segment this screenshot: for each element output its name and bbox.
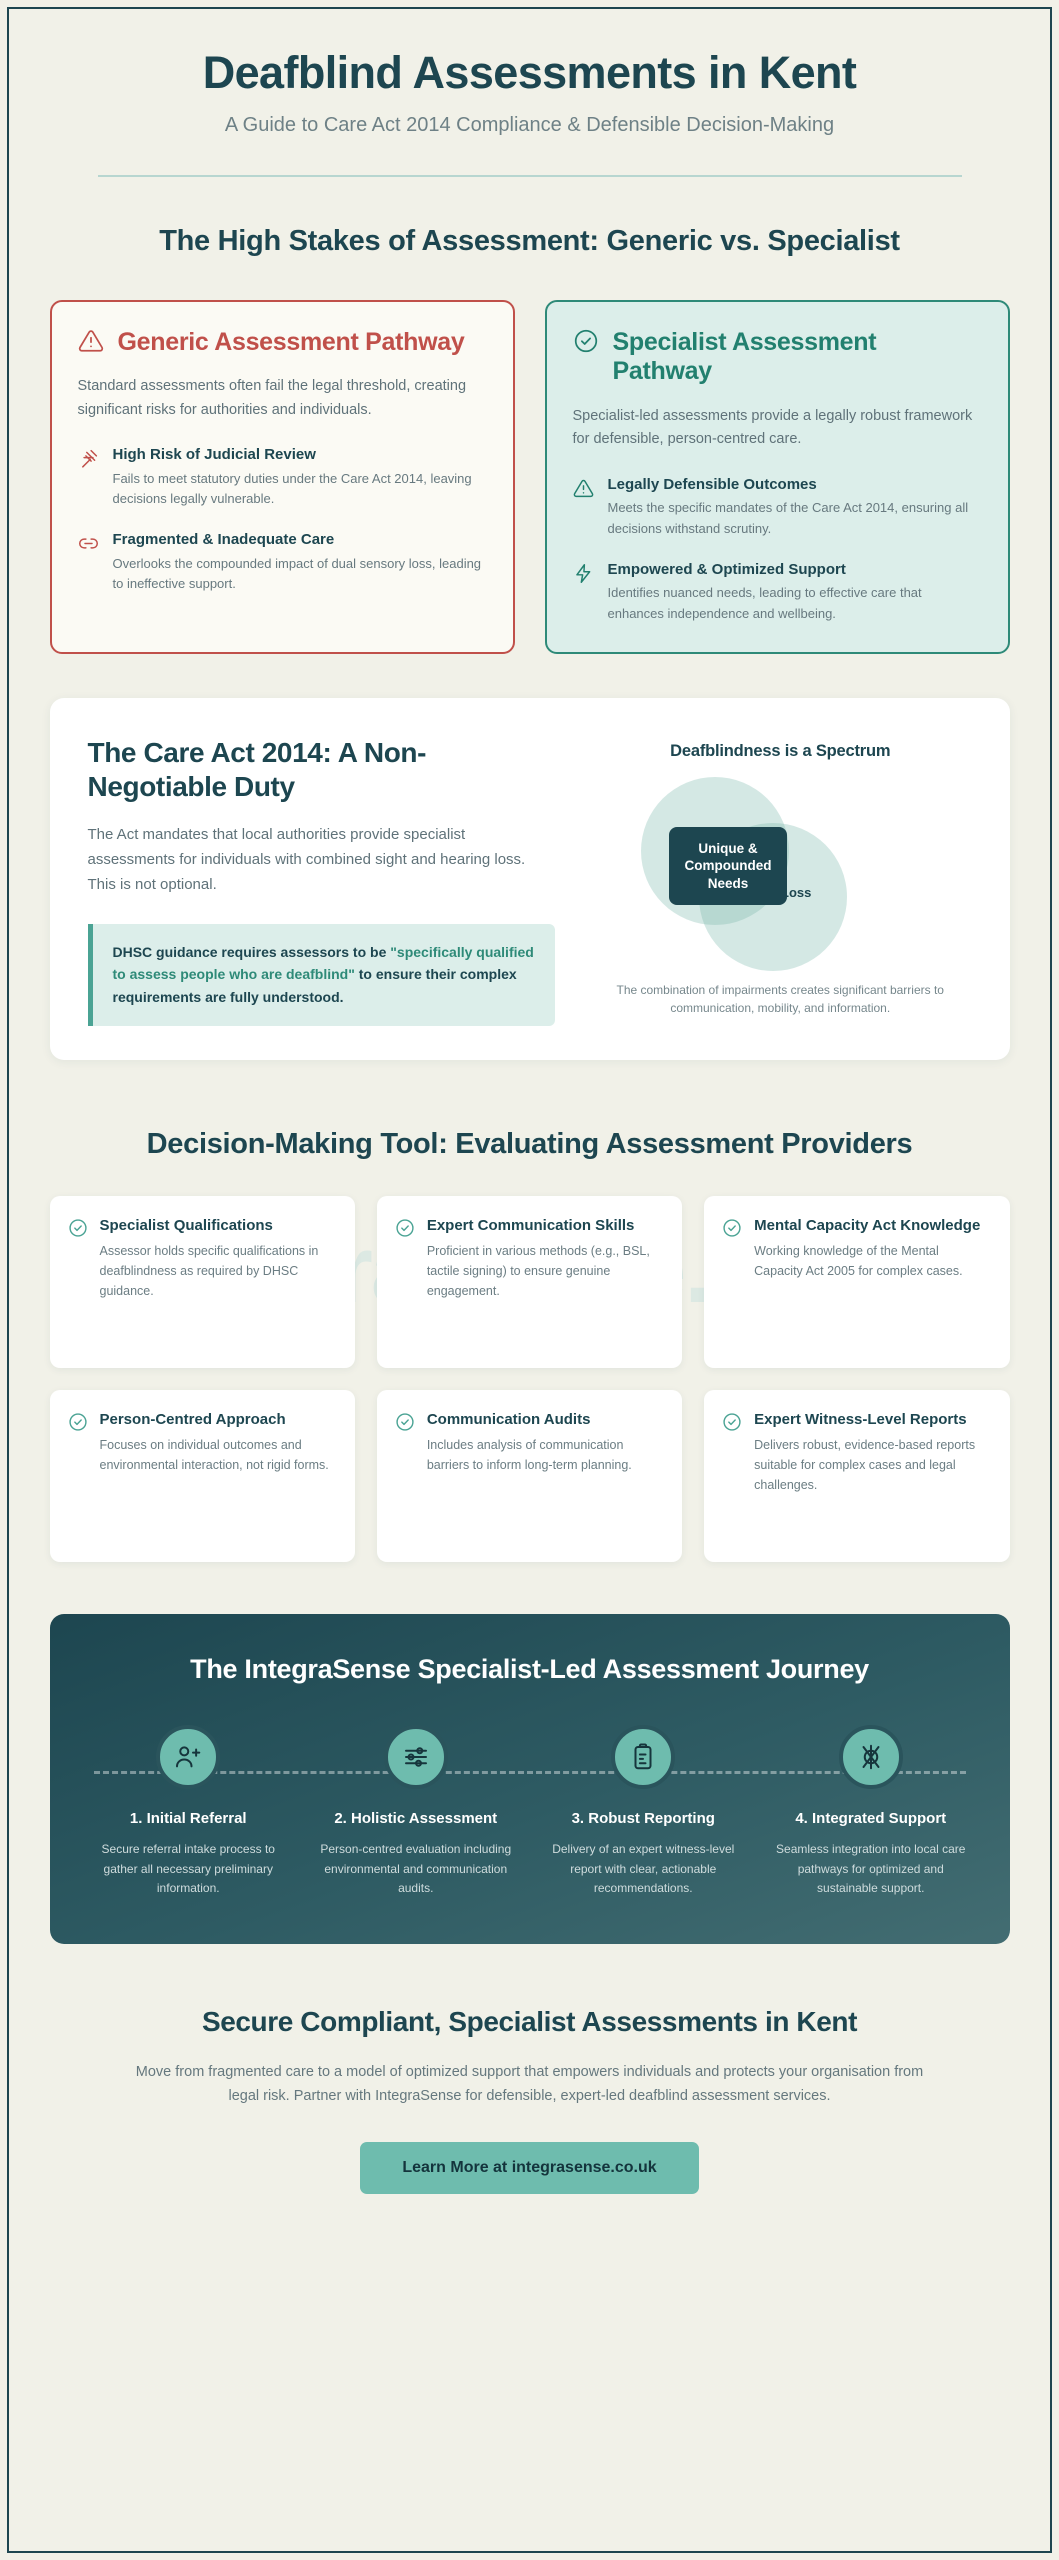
- alert-triangle-icon: [78, 328, 104, 354]
- step-desc: Seamless integration into local care pat…: [766, 1840, 976, 1898]
- network-nodes-icon: [856, 1742, 886, 1772]
- list-item-title: Person-Centred Approach: [100, 1410, 335, 1429]
- step-bubble: [611, 1725, 675, 1789]
- comparison-section: The High Stakes of Assessment: Generic v…: [50, 223, 1010, 653]
- care-act-title: The Care Act 2014: A Non-Negotiable Duty: [88, 736, 556, 804]
- clipboard-icon: [628, 1742, 658, 1772]
- list-item: Mental Capacity Act Knowledge Working kn…: [704, 1196, 1009, 1368]
- specialist-card-lead: Specialist-led assessments provide a leg…: [573, 405, 982, 452]
- gavel-icon: [78, 446, 100, 509]
- list-item: Legally Defensible Outcomes Meets the sp…: [573, 476, 982, 539]
- list-item-desc: Working knowledge of the Mental Capacity…: [754, 1241, 989, 1281]
- care-act-body: The Act mandates that local authorities …: [88, 822, 556, 898]
- specialist-pathway-card: Specialist Assessment Pathway Specialist…: [545, 300, 1010, 654]
- list-item-title: Empowered & Optimized Support: [608, 561, 982, 580]
- decision-tool-section: Decision-Making Tool: Evaluating Assessm…: [50, 1126, 1010, 1562]
- step-title: 1. Initial Referral: [84, 1809, 294, 1829]
- page-subtitle: A Guide to Care Act 2014 Compliance & De…: [50, 114, 1010, 137]
- step-bubble: [156, 1725, 220, 1789]
- check-circle-icon: [722, 1410, 742, 1538]
- generic-card-header: Generic Assessment Pathway: [78, 328, 487, 358]
- page-title: Deafblind Assessments in Kent: [50, 48, 1010, 98]
- journey-title: The IntegraSense Specialist-Led Assessme…: [84, 1652, 976, 1687]
- broken-link-icon: [78, 531, 100, 594]
- list-item-title: Expert Communication Skills: [427, 1216, 662, 1235]
- list-item: Person-Centred Approach Focuses on indiv…: [50, 1390, 355, 1562]
- list-item-title: Specialist Qualifications: [100, 1216, 335, 1235]
- journey-step-2: 2. Holistic Assessment Person-centred ev…: [311, 1725, 521, 1898]
- footer-cta-section: Secure Compliant, Specialist Assessments…: [50, 2006, 1010, 2194]
- list-item: Expert Communication Skills Proficient i…: [377, 1196, 682, 1368]
- page-header: Deafblind Assessments in Kent A Guide to…: [50, 0, 1010, 177]
- list-item-desc: Includes analysis of communication barri…: [427, 1435, 662, 1475]
- step-desc: Delivery of an expert witness-level repo…: [539, 1840, 749, 1898]
- check-circle-icon: [395, 1410, 415, 1538]
- list-item-title: Communication Audits: [427, 1410, 662, 1429]
- step-desc: Person-centred evaluation including envi…: [311, 1840, 521, 1898]
- spectrum-title: Deafblindness is a Spectrum: [589, 742, 972, 761]
- care-act-text-column: The Care Act 2014: A Non-Negotiable Duty…: [88, 736, 556, 1026]
- care-act-panel: The Care Act 2014: A Non-Negotiable Duty…: [50, 698, 1010, 1060]
- check-circle-icon: [68, 1410, 88, 1538]
- comparison-card-group: Generic Assessment Pathway Standard asse…: [50, 300, 1010, 654]
- assessment-journey-panel: The IntegraSense Specialist-Led Assessme…: [50, 1614, 1010, 1944]
- list-item-title: Mental Capacity Act Knowledge: [754, 1216, 989, 1235]
- list-item-desc: Focuses on individual outcomes and envir…: [100, 1435, 335, 1475]
- header-divider: [98, 175, 962, 177]
- list-item-desc: Fails to meet statutory duties under the…: [113, 469, 487, 509]
- checklist-grid: Specialist Qualifications Assessor holds…: [50, 1196, 1010, 1562]
- step-title: 2. Holistic Assessment: [311, 1809, 521, 1829]
- journey-step-1: 1. Initial Referral Secure referral inta…: [84, 1725, 294, 1898]
- list-item-title: Legally Defensible Outcomes: [608, 476, 982, 495]
- alert-triangle-icon: [573, 476, 595, 539]
- quote-lead: DHSC guidance requires assessors to be: [113, 944, 391, 960]
- user-plus-icon: [173, 1742, 203, 1772]
- list-item-desc: Meets the specific mandates of the Care …: [608, 498, 982, 538]
- journey-step-4: 4. Integrated Support Seamless integrati…: [766, 1725, 976, 1898]
- check-circle-icon: [722, 1216, 742, 1344]
- list-item-title: High Risk of Judicial Review: [113, 446, 487, 465]
- list-item-title: Fragmented & Inadequate Care: [113, 531, 487, 550]
- specialist-card-header: Specialist Assessment Pathway: [573, 328, 982, 387]
- generic-card-title: Generic Assessment Pathway: [118, 328, 465, 358]
- step-title: 3. Robust Reporting: [539, 1809, 749, 1829]
- footer-body: Move from fragmented care to a model of …: [135, 2060, 925, 2108]
- step-bubble: [384, 1725, 448, 1789]
- check-circle-icon: [395, 1216, 415, 1344]
- check-circle-icon: [573, 328, 599, 354]
- spectrum-diagram: Deafblindness is a Spectrum Sight Loss H…: [589, 736, 972, 1026]
- spectrum-caption: The combination of impairments creates s…: [589, 981, 972, 1018]
- list-item: Specialist Qualifications Assessor holds…: [50, 1196, 355, 1368]
- list-item: Expert Witness-Level Reports Delivers ro…: [704, 1390, 1009, 1562]
- specialist-card-title: Specialist Assessment Pathway: [613, 328, 982, 387]
- list-item-desc: Delivers robust, evidence-based reports …: [754, 1435, 989, 1495]
- venn-center-chip: Unique & Compounded Needs: [669, 827, 787, 906]
- decision-tool-title: Decision-Making Tool: Evaluating Assessm…: [50, 1126, 1010, 1162]
- list-item-desc: Identifies nuanced needs, leading to eff…: [608, 583, 982, 623]
- journey-step-3: 3. Robust Reporting Delivery of an exper…: [539, 1725, 749, 1898]
- step-bubble: [839, 1725, 903, 1789]
- footer-title: Secure Compliant, Specialist Assessments…: [50, 2006, 1010, 2038]
- list-item-desc: Overlooks the compounded impact of dual …: [113, 554, 487, 594]
- learn-more-button[interactable]: Learn More at integrasense.co.uk: [360, 2142, 698, 2194]
- journey-steps: 1. Initial Referral Secure referral inta…: [84, 1725, 976, 1898]
- specialist-card-items: Legally Defensible Outcomes Meets the sp…: [573, 476, 982, 624]
- list-item-desc: Proficient in various methods (e.g., BSL…: [427, 1241, 662, 1301]
- list-item-title: Expert Witness-Level Reports: [754, 1410, 989, 1429]
- step-desc: Secure referral intake process to gather…: [84, 1840, 294, 1898]
- venn-diagram: Sight Loss Hearing Loss Unique & Compoun…: [589, 775, 972, 975]
- generic-card-items: High Risk of Judicial Review Fails to me…: [78, 446, 487, 594]
- generic-pathway-card: Generic Assessment Pathway Standard asse…: [50, 300, 515, 654]
- check-circle-icon: [68, 1216, 88, 1344]
- list-item: High Risk of Judicial Review Fails to me…: [78, 446, 487, 509]
- list-item-desc: Assessor holds specific qualifications i…: [100, 1241, 335, 1301]
- comparison-section-title: The High Stakes of Assessment: Generic v…: [50, 223, 1010, 259]
- list-item: Empowered & Optimized Support Identifies…: [573, 561, 982, 624]
- lightning-bolt-icon: [573, 561, 595, 624]
- dhsc-guidance-quote: DHSC guidance requires assessors to be "…: [88, 924, 556, 1026]
- list-item: Communication Audits Includes analysis o…: [377, 1390, 682, 1562]
- step-title: 4. Integrated Support: [766, 1809, 976, 1829]
- generic-card-lead: Standard assessments often fail the lega…: [78, 375, 487, 422]
- list-item: Fragmented & Inadequate Care Overlooks t…: [78, 531, 487, 594]
- sliders-icon: [401, 1742, 431, 1772]
